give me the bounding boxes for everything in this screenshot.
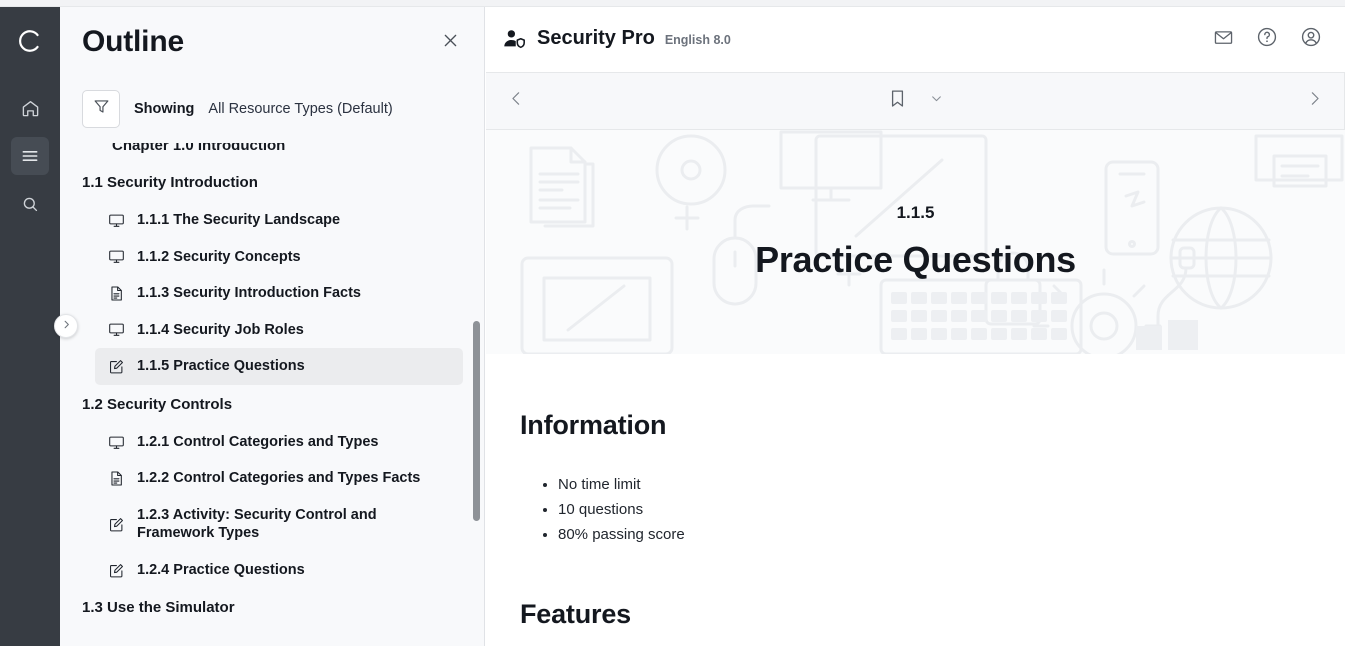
outline-topic-label: 1.1.1 The Security Landscape — [137, 211, 340, 230]
outline-scrollbar-thumb[interactable] — [473, 321, 480, 521]
pencil-square-icon — [107, 358, 125, 375]
bookmark-dropdown-button[interactable] — [930, 92, 943, 110]
c-logo-icon[interactable] — [10, 21, 50, 61]
app-rail — [0, 7, 60, 646]
course-version: English 8.0 — [665, 33, 731, 47]
window-top-strip — [0, 0, 1345, 7]
outline-topic-label: 1.2.2 Control Categories and Types Facts — [137, 469, 420, 488]
features-heading: Features — [520, 599, 1311, 630]
outline-chapter[interactable]: Chapter 1.0 Introduction — [60, 143, 485, 163]
pencil-square-icon — [107, 562, 125, 579]
monitor-icon — [107, 434, 125, 451]
close-outline-button[interactable] — [434, 27, 466, 59]
outline-topic-label: 1.2.3 Activity: Security Control and Fra… — [137, 506, 453, 543]
outline-topic[interactable]: 1.1.4 Security Job Roles — [95, 312, 463, 349]
filter-row: Showing All Resource Types (Default) — [60, 83, 484, 135]
application-root: Outline Showing All Resource Types (Defa… — [0, 0, 1345, 646]
outline-topic[interactable]: 1.2.2 Control Categories and Types Facts — [95, 460, 463, 497]
outline-list: Chapter 1.0 Introduction1.1 Security Int… — [60, 143, 485, 646]
lesson-hero: 1.1.5 Practice Questions — [486, 130, 1345, 354]
outline-section[interactable]: 1.2 Security Controls — [60, 385, 485, 424]
user-shield-icon — [502, 27, 527, 52]
content-toolbar — [486, 73, 1345, 130]
outline-topic-label: 1.2.4 Practice Questions — [137, 561, 305, 580]
chevron-down-icon — [930, 92, 943, 110]
lesson-body: Information No time limit10 questions80%… — [486, 354, 1345, 630]
account-button[interactable] — [1297, 26, 1325, 54]
bookmark-button[interactable] — [887, 88, 908, 114]
document-icon — [107, 285, 125, 302]
next-page-button[interactable] — [1284, 90, 1344, 112]
outline-panel: Outline Showing All Resource Types (Defa… — [60, 7, 485, 646]
pencil-square-icon — [107, 516, 125, 533]
messages-button[interactable] — [1209, 26, 1237, 54]
information-list-item: No time limit — [558, 473, 1311, 498]
chevron-left-icon — [508, 90, 525, 112]
outline-topic[interactable]: 1.2.1 Control Categories and Types — [95, 424, 463, 461]
panel-collapse-handle[interactable] — [54, 314, 78, 338]
monitor-icon — [107, 321, 125, 338]
information-heading: Information — [520, 410, 1311, 441]
sidebar-item-outline[interactable] — [11, 137, 49, 175]
bookmark-icon — [887, 88, 908, 114]
search-icon — [21, 195, 40, 214]
sidebar-item-home[interactable] — [11, 89, 49, 127]
outline-topic[interactable]: 1.2.4 Practice Questions — [95, 552, 463, 589]
lesson-title: Practice Questions — [755, 239, 1076, 281]
user-circle-icon — [1300, 26, 1322, 53]
home-icon — [21, 99, 40, 118]
information-list: No time limit10 questions80% passing sco… — [558, 473, 1311, 547]
information-list-item: 10 questions — [558, 498, 1311, 523]
document-icon — [107, 470, 125, 487]
lesson-number: 1.1.5 — [897, 203, 935, 223]
help-circle-icon — [1256, 26, 1278, 53]
outline-topic-label: 1.1.4 Security Job Roles — [137, 321, 304, 340]
mail-icon — [1213, 27, 1234, 53]
outline-section[interactable]: 1.3 Use the Simulator — [60, 588, 485, 627]
help-button[interactable] — [1253, 26, 1281, 54]
filter-showing-value[interactable]: All Resource Types (Default) — [208, 101, 392, 117]
close-icon — [441, 31, 460, 55]
outline-topic-label: 1.1.3 Security Introduction Facts — [137, 284, 361, 303]
outline-section[interactable]: 1.1 Security Introduction — [60, 163, 485, 202]
course-header: Security Pro English 8.0 — [486, 7, 1345, 73]
filter-icon — [92, 97, 111, 121]
outline-topic-label: 1.1.2 Security Concepts — [137, 248, 301, 267]
outline-topic-label: 1.1.5 Practice Questions — [137, 357, 305, 376]
previous-page-button[interactable] — [486, 90, 546, 112]
page-title: Outline — [82, 25, 460, 59]
course-brand: Security Pro English 8.0 — [502, 27, 731, 52]
course-title: Security Pro — [537, 27, 655, 50]
toolbar-center — [546, 88, 1284, 114]
outline-topic[interactable]: 1.1.2 Security Concepts — [95, 239, 463, 276]
outline-topic[interactable]: 1.1.1 The Security Landscape — [95, 202, 463, 239]
filter-showing-label: Showing — [134, 101, 194, 117]
monitor-icon — [107, 248, 125, 265]
outline-topic[interactable]: 1.1.3 Security Introduction Facts — [95, 275, 463, 312]
outline-topic-selected[interactable]: 1.1.5 Practice Questions — [95, 348, 463, 385]
outline-topic-label: 1.2.1 Control Categories and Types — [137, 433, 378, 452]
filter-button[interactable] — [82, 90, 120, 128]
outline-topic[interactable]: 1.2.3 Activity: Security Control and Fra… — [95, 497, 463, 552]
main-pane: Security Pro English 8.0 — [486, 7, 1345, 646]
chevron-right-icon — [61, 317, 72, 335]
information-list-item: 80% passing score — [558, 523, 1311, 548]
menu-icon — [20, 146, 40, 166]
outline-header: Outline — [60, 7, 484, 83]
header-actions — [1209, 26, 1325, 54]
chevron-right-icon — [1306, 90, 1323, 112]
sidebar-item-search[interactable] — [11, 185, 49, 223]
monitor-icon — [107, 212, 125, 229]
outline-scrollbar-track[interactable] — [474, 143, 482, 646]
